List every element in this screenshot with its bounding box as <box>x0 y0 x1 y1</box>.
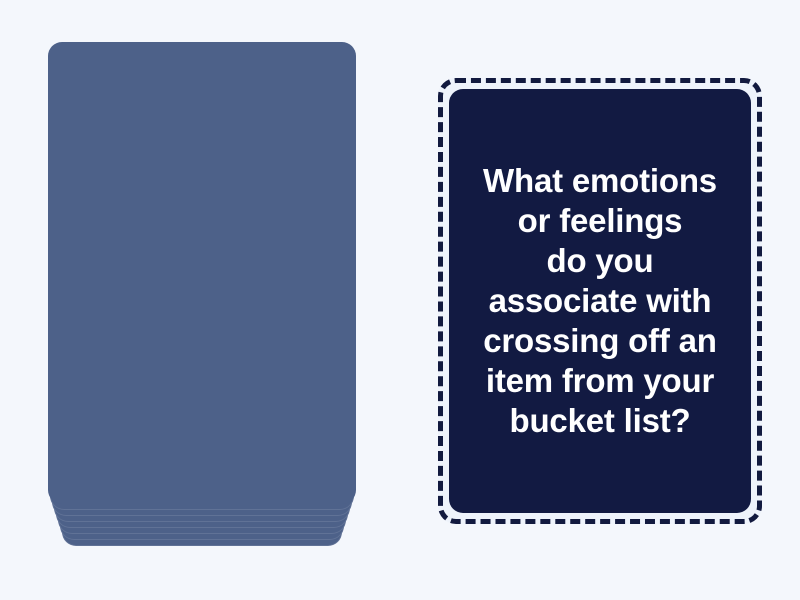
card-deck[interactable] <box>48 42 356 546</box>
card-drop-target[interactable]: What emotions or feelings do you associa… <box>438 78 762 524</box>
flashcard-stage: What emotions or feelings do you associa… <box>0 0 800 600</box>
question-card[interactable]: What emotions or feelings do you associa… <box>449 89 751 513</box>
deck-top-card[interactable] <box>48 42 356 504</box>
question-text: What emotions or feelings do you associa… <box>483 161 717 441</box>
